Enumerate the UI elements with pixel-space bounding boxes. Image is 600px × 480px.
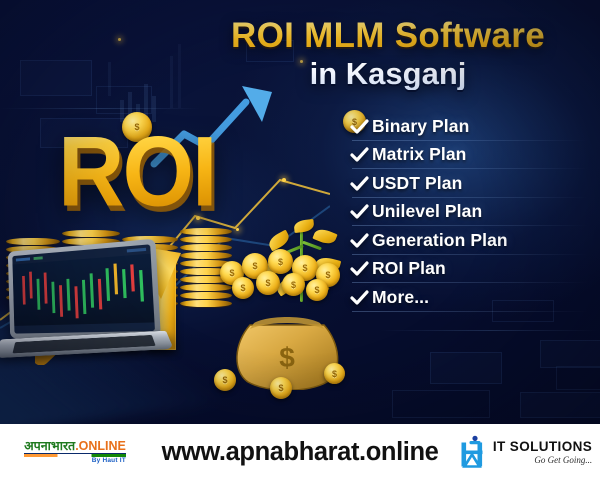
brand-logo-domain-suffix: .ONLINE <box>75 439 126 453</box>
brand-logo-hindi-text: अपनाभारत <box>24 439 75 453</box>
website-url[interactable]: www.apnabharat.online <box>162 438 439 467</box>
it-solutions-mark-icon <box>458 435 488 469</box>
promotional-poster: $ $ ROI <box>0 0 600 480</box>
brand-logo-byline: By Haut IT <box>24 458 126 465</box>
partner-logo[interactable]: IT SOLUTIONS Go Get Going... <box>450 435 600 469</box>
partner-logo-tagline: Go Get Going... <box>493 456 592 465</box>
background-vignette <box>0 0 600 480</box>
website-url-block[interactable]: www.apnabharat.online <box>150 438 450 467</box>
brand-logo[interactable]: अपनाभारत.ONLINE By Haut IT <box>0 440 150 465</box>
partner-logo-name: IT SOLUTIONS <box>493 439 592 454</box>
footer-bar: अपनाभारत.ONLINE By Haut IT www.apnabhara… <box>0 424 600 480</box>
